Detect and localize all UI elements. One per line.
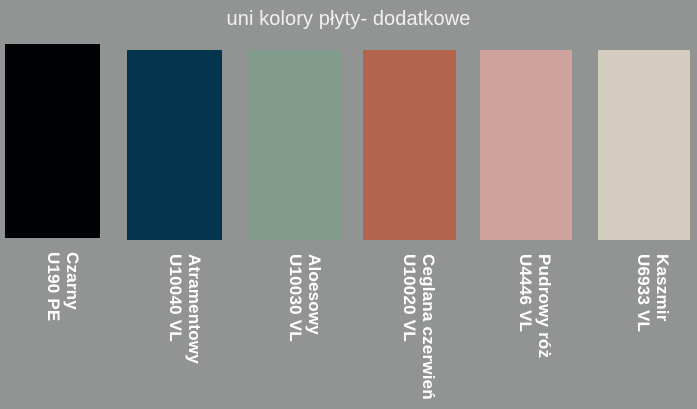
swatch-code: U190 PE [44, 252, 63, 321]
swatch-name: Ceglana czerwień [419, 254, 438, 400]
swatch-name: Czarny [63, 252, 82, 321]
color-swatch[interactable] [480, 50, 572, 240]
swatch-name: Pudrowy róż [535, 254, 554, 358]
page-title: uni kolory płyty- dodatkowe [0, 8, 697, 31]
swatch-label: Pudrowy różU4446 VL [516, 254, 554, 358]
swatch-code: U6933 VL [634, 254, 653, 332]
swatch-code: U10020 VL [400, 254, 419, 400]
swatch-code: U10030 VL [286, 254, 305, 342]
color-palette-board: uni kolory płyty- dodatkowe CzarnyU190 P… [0, 0, 697, 409]
swatch-name: Atramentowy [185, 254, 204, 364]
swatch-name: Aloesowy [305, 254, 324, 342]
color-swatch[interactable] [5, 44, 100, 238]
swatch-label: KaszmirU6933 VL [634, 254, 672, 332]
swatch-name: Kaszmir [653, 254, 672, 332]
color-swatch[interactable] [363, 50, 456, 240]
swatch-label: AloesowyU10030 VL [286, 254, 324, 342]
swatch-label: AtramentowyU10040 VL [166, 254, 204, 364]
swatch-code: U10040 VL [166, 254, 185, 364]
color-swatch[interactable] [248, 50, 342, 240]
color-swatch[interactable] [598, 50, 690, 240]
color-swatch[interactable] [127, 50, 222, 240]
swatch-label: Ceglana czerwieńU10020 VL [400, 254, 438, 400]
swatch-label: CzarnyU190 PE [44, 252, 82, 321]
swatch-code: U4446 VL [516, 254, 535, 358]
